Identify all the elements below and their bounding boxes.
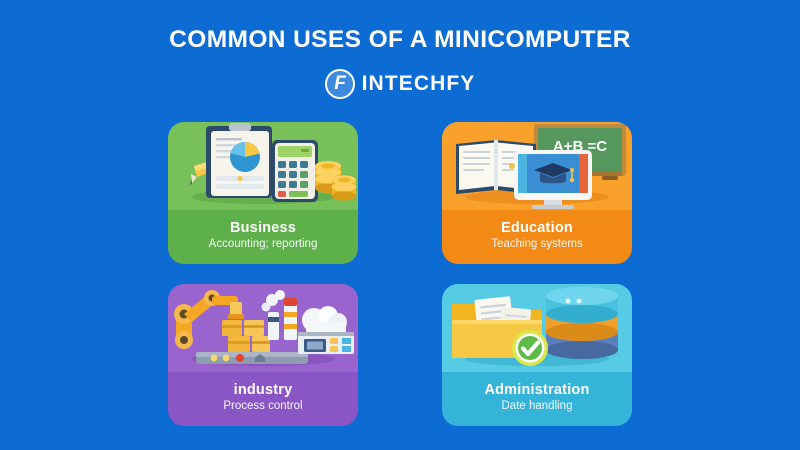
card-administration[interactable]: Administration Date handling (442, 284, 632, 426)
card-administration-artwork (442, 284, 632, 372)
card-industry-subtitle: Process control (223, 400, 302, 413)
cloud (302, 306, 347, 334)
robot-arm-conveyor-factory-icon (168, 284, 358, 372)
brand-lockup: F INTECHFY (325, 69, 476, 99)
card-business-label: Business Accounting; reporting (168, 210, 358, 264)
page-title: COMMON USES OF A MINICOMPUTER (169, 27, 631, 54)
database-stack (546, 287, 618, 359)
card-industry-title: industry (234, 382, 293, 399)
header: COMMON USES OF A MINICOMPUTER F INTECHFY (0, 0, 800, 118)
card-industry-label: industry Process control (168, 372, 358, 426)
card-business-subtitle: Accounting; reporting (209, 238, 318, 251)
clipboard-report (206, 123, 272, 198)
card-administration-subtitle: Date handling (502, 400, 573, 413)
card-industry[interactable]: industry Process control (168, 284, 358, 426)
monitor (514, 150, 592, 209)
intechfy-circle-f-logo-icon: F (325, 69, 355, 99)
cardboard-boxes (222, 320, 270, 352)
green-check-badge (512, 330, 548, 366)
chalk-dot (509, 163, 515, 169)
factory-smokestacks (262, 290, 355, 354)
card-business-title: Business (230, 220, 296, 237)
card-education-label: Education Teaching systems (442, 210, 632, 264)
card-business[interactable]: Business Accounting; reporting (168, 122, 358, 264)
conveyor-belt (196, 352, 308, 364)
card-administration-label: Administration Date handling (442, 372, 632, 426)
card-business-artwork (168, 122, 358, 210)
card-education-subtitle: Teaching systems (491, 238, 582, 251)
clipboard-calculator-coins-icon (168, 122, 358, 210)
blackboard-book-monitor-icon: A+B =C (442, 122, 632, 210)
card-education[interactable]: A+B =C (442, 122, 632, 264)
card-industry-artwork (168, 284, 358, 372)
card-education-title: Education (501, 220, 573, 237)
brand-name: INTECHFY (362, 73, 476, 94)
folder-database-check-icon (442, 284, 632, 372)
uses-card-grid: Business Accounting; reporting A+B =C (168, 122, 632, 426)
logo-letter: F (325, 69, 355, 99)
calculator (272, 140, 318, 202)
card-education-artwork: A+B =C (442, 122, 632, 210)
card-administration-title: Administration (484, 382, 589, 399)
coin-stacks (315, 161, 356, 201)
